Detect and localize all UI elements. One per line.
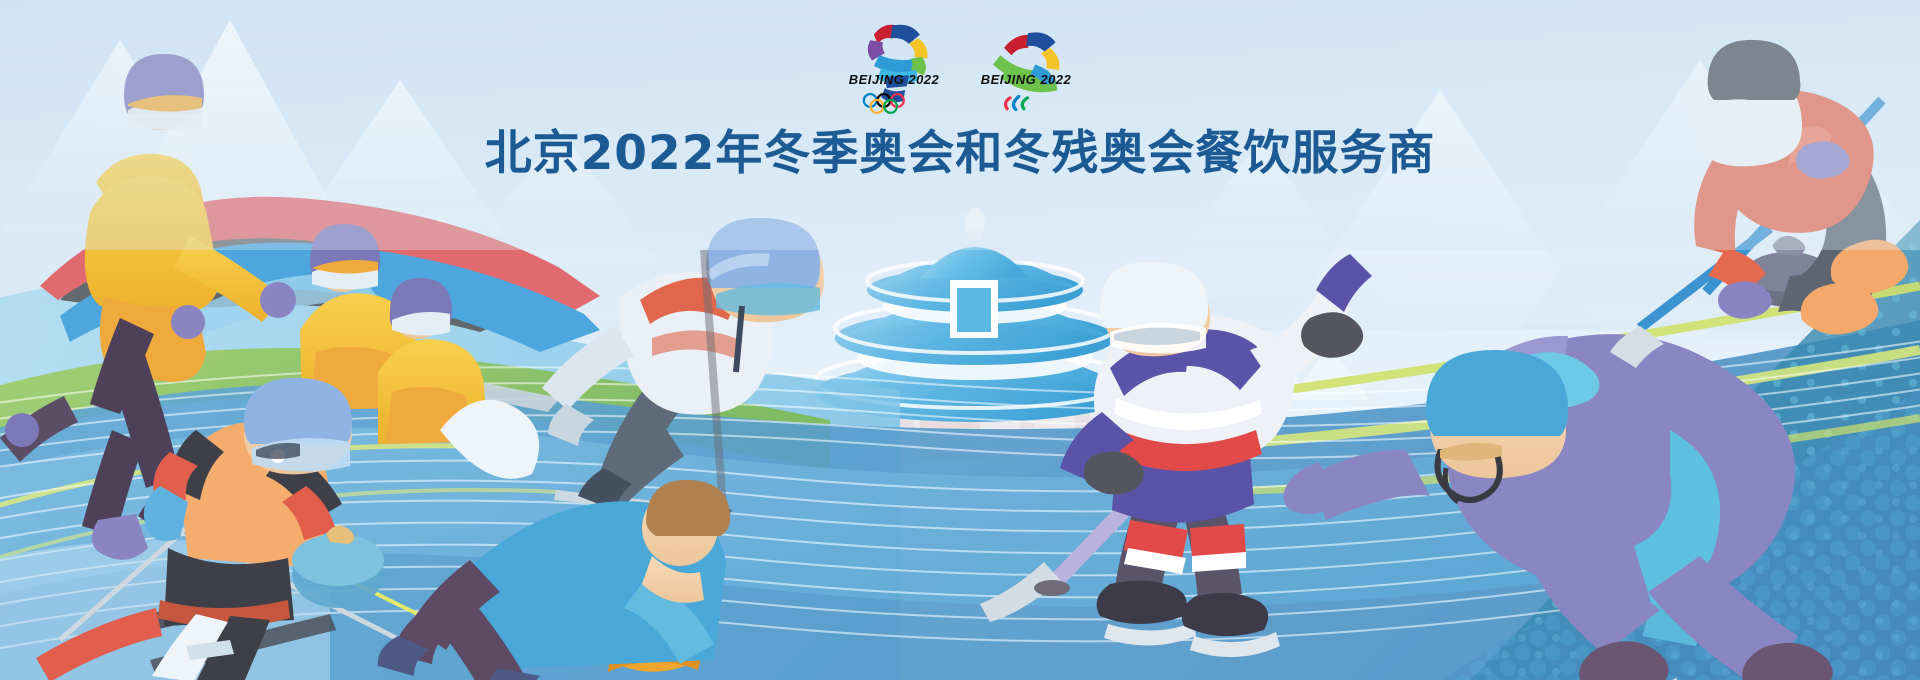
- olympics-catering-banner: BEIJING 2022: [0, 0, 1920, 680]
- banner-artwork: [0, 0, 1920, 680]
